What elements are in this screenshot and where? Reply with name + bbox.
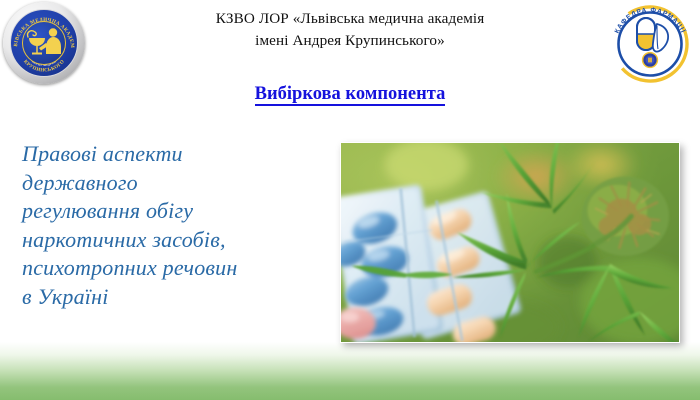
slide-root: ЛЬВІВСЬКА МЕДИЧНА АКАДЕМІЯ КРУПИНСЬКОГО … <box>0 0 700 400</box>
subtitle-elective-component: Вибіркова компонента <box>255 84 446 106</box>
course-title-line-4: наркотичних засобів, <box>22 226 322 255</box>
institution-title-line1: КЗВО ЛОР «Львівська медична академія <box>120 8 580 30</box>
lviv-medical-academy-logo: ЛЬВІВСЬКА МЕДИЧНА АКАДЕМІЯ КРУПИНСЬКОГО … <box>3 2 85 84</box>
institution-title-line2: імені Андрея Крупинського» <box>120 30 580 52</box>
course-title-line-3: регулювання обігу <box>22 197 322 226</box>
course-title-line-6: в Україні <box>22 283 322 312</box>
course-title-line-5: психотропних речовин <box>22 254 322 283</box>
subtitle-container: Вибіркова компонента <box>120 84 580 106</box>
course-title: Правові аспекти державного регулювання о… <box>22 140 322 312</box>
course-title-line-1: Правові аспекти <box>22 140 322 169</box>
course-title-line-2: державного <box>22 169 322 198</box>
institution-title: КЗВО ЛОР «Львівська медична академія іме… <box>120 8 580 51</box>
pharmacy-department-logo: КАФЕДРА ФАРМАЦІЇ <box>608 0 692 86</box>
bottom-green-gradient-band <box>0 342 700 400</box>
logo-hygieia-emblem <box>24 24 64 62</box>
pills-and-cannabis-photo <box>340 142 680 343</box>
